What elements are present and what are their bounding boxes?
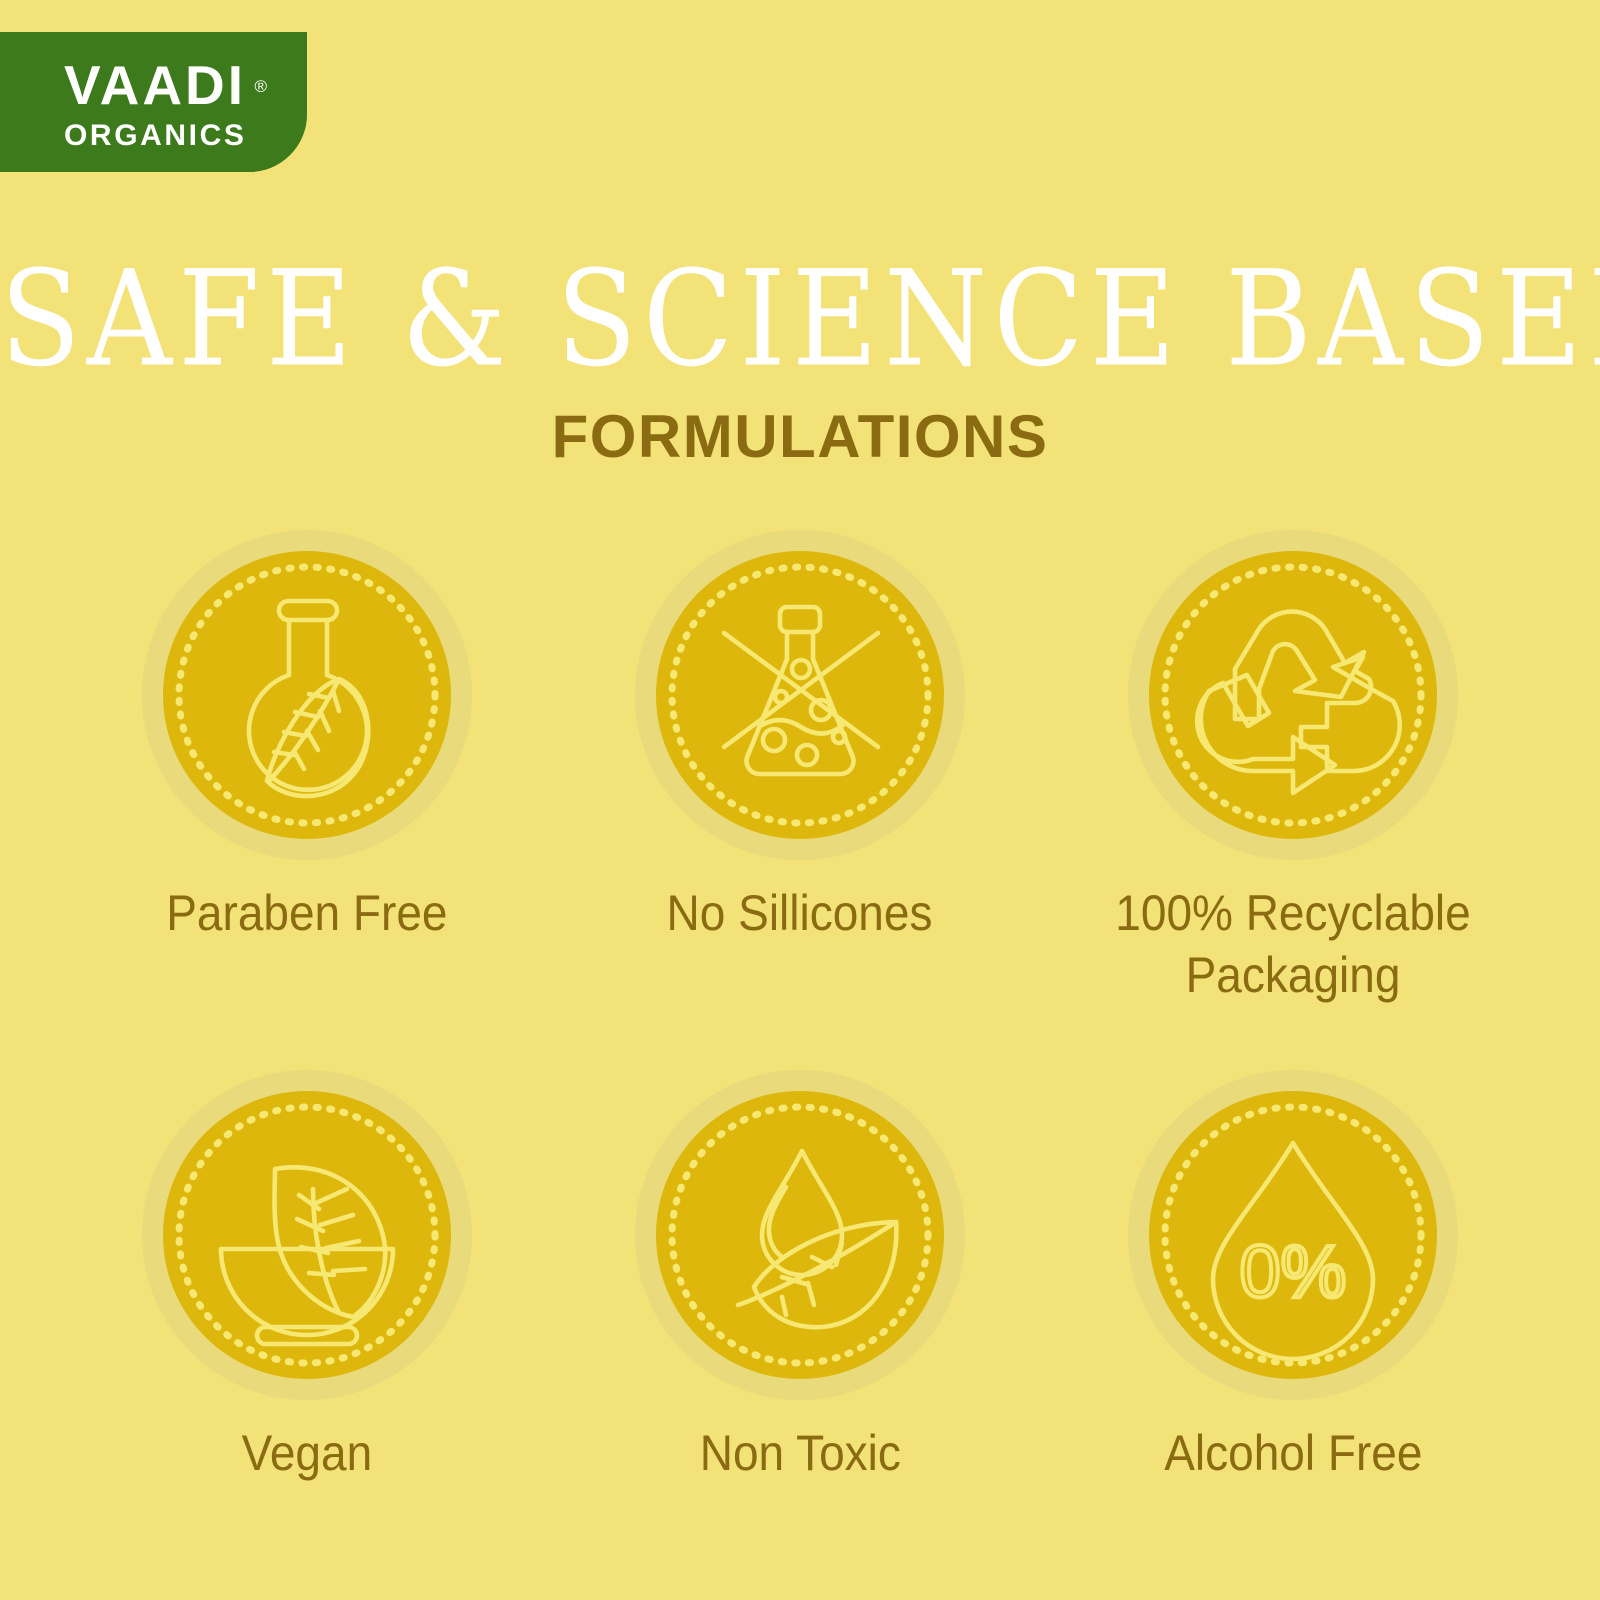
page-subtitle: FORMULATIONS — [0, 404, 1600, 470]
feature-label: Paraben Free — [166, 882, 447, 944]
feature-badge — [1128, 530, 1458, 860]
feature-item-recyclable-packaging: 100% Recyclable Packaging — [1047, 530, 1540, 1070]
brand-name-primary-text: VAADI — [64, 54, 246, 116]
feature-item-no-sillicones: No Sillicones — [553, 530, 1046, 1070]
feature-badge — [142, 1070, 472, 1400]
crossed-out-erlenmeyer-flask-icon — [656, 551, 944, 839]
droplet-with-leaf-icon — [656, 1091, 944, 1379]
feature-grid: Paraben Free — [60, 530, 1540, 1600]
brand-name-primary: VAADI ® — [64, 56, 246, 114]
feature-item-vegan: Vegan — [60, 1070, 553, 1600]
feature-item-non-toxic: Non Toxic — [553, 1070, 1046, 1600]
feature-badge: 0% — [1128, 1070, 1458, 1400]
feature-item-paraben-free: Paraben Free — [60, 530, 553, 1070]
registered-trademark-icon: ® — [255, 58, 271, 116]
feature-badge — [635, 530, 965, 860]
feature-item-alcohol-free: 0% Alcohol Free — [1047, 1070, 1540, 1600]
brand-logo-badge: VAADI ® ORGANICS — [0, 32, 307, 172]
feature-label: Alcohol Free — [1164, 1422, 1422, 1484]
bowl-with-leaf-icon — [163, 1091, 451, 1379]
feature-badge — [635, 1070, 965, 1400]
flask-with-leaf-icon — [163, 551, 451, 839]
brand-logo-text: VAADI ® ORGANICS — [64, 56, 304, 156]
zero-percent-label: 0% — [1240, 1230, 1347, 1313]
feature-badge — [142, 530, 472, 860]
feature-label: Non Toxic — [699, 1422, 900, 1484]
poster-canvas: VAADI ® ORGANICS SAFE & SCIENCE BASED FO… — [0, 0, 1600, 1600]
droplet-zero-percent-icon: 0% — [1149, 1091, 1437, 1379]
brand-name-secondary: ORGANICS — [64, 116, 304, 156]
feature-label: 100% Recyclable Packaging — [1091, 882, 1496, 1006]
page-title: SAFE & SCIENCE BASED — [0, 248, 1600, 389]
feature-label: Vegan — [241, 1422, 371, 1484]
feature-label: No Sillicones — [667, 882, 933, 944]
recycling-arrows-icon — [1149, 551, 1437, 839]
